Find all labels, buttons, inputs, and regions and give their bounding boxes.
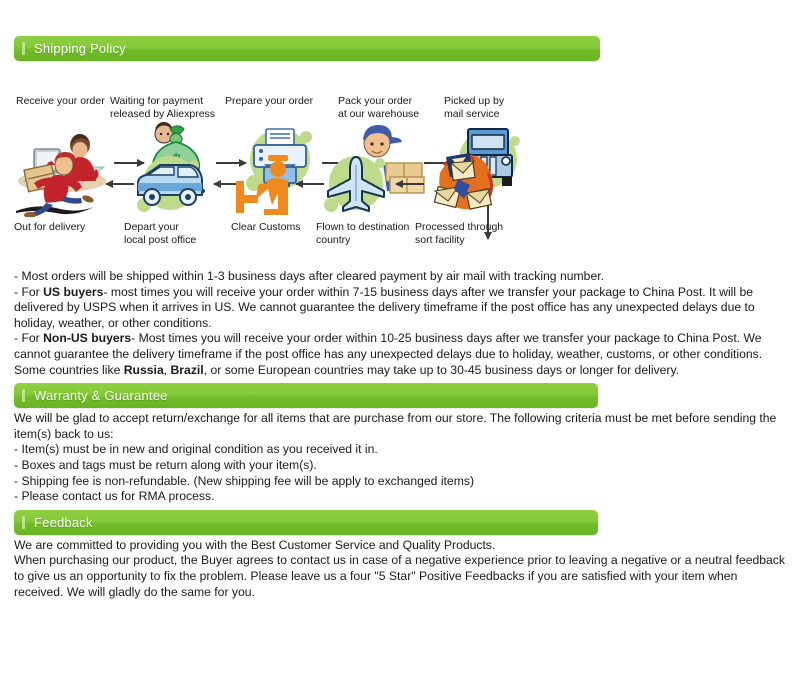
shipping-policy-text: - Most orders will be shipped within 1-3… [14, 269, 786, 378]
section-header-warranty: Warranty & Guarantee [14, 383, 598, 408]
text-segment-bold: US buyers [43, 285, 103, 299]
text-segment: - Please contact us for RMA process. [14, 489, 215, 503]
text-segment: We are committed to providing you with t… [14, 538, 495, 552]
text-segment-bold: Non-US buyers [43, 331, 131, 345]
warranty-paragraph-4: - Shipping fee is non-refundable. (New s… [14, 474, 786, 490]
flow-label-clear-customs: Clear Customs [231, 221, 300, 234]
section-header-feedback: Feedback [14, 510, 598, 535]
shipping-paragraph-2: - For US buyers- most times you will rec… [14, 285, 786, 332]
warranty-text: We will be glad to accept return/exchang… [14, 411, 786, 505]
running-courier-icon [12, 149, 108, 217]
text-segment-bold: Russia [124, 363, 164, 377]
flow-label-sort-facility: Processed through sort facility [415, 221, 503, 246]
text-segment: When purchasing our product, the Buyer a… [14, 553, 785, 598]
customs-officer-icon [228, 151, 296, 219]
flow-arrow-8 [396, 183, 424, 185]
shipping-info-page: Shipping Policy Receive your order Waiti… [0, 36, 800, 674]
text-segment: - most times you will receive your order… [14, 285, 755, 330]
bar-tick-icon [22, 516, 25, 529]
feedback-text: We are committed to providing you with t… [14, 538, 786, 600]
flow-label-flown-destination: Flown to destination country [316, 221, 409, 246]
feedback-paragraph-1: We are committed to providing you with t… [14, 538, 786, 554]
text-segment: , [164, 363, 171, 377]
shipping-flow-diagram: Receive your order Waiting for payment r… [0, 61, 800, 266]
feedback-paragraph-2: When purchasing our product, the Buyer a… [14, 553, 786, 600]
text-segment: - Item(s) must be in new and original co… [14, 442, 378, 456]
flow-label-prepare-order: Prepare your order [225, 95, 313, 108]
section-header-shipping-policy: Shipping Policy [14, 36, 600, 61]
flow-label-pack-order: Pack your order at our warehouse [338, 95, 419, 120]
section-title-feedback: Feedback [34, 515, 93, 530]
section-title-shipping: Shipping Policy [34, 41, 126, 56]
flow-label-picked-up: Picked up by mail service [444, 95, 504, 120]
text-segment-bold: Brazil [171, 363, 204, 377]
shipping-paragraph-1: - Most orders will be shipped within 1-3… [14, 269, 786, 285]
bar-tick-icon [22, 42, 25, 55]
warranty-paragraph-5: - Please contact us for RMA process. [14, 489, 786, 505]
warranty-paragraph-2: - Item(s) must be in new and original co… [14, 442, 786, 458]
text-segment: - For [14, 285, 43, 299]
flow-label-depart-post-office: Depart your local post office [124, 221, 196, 246]
text-segment: We will be glad to accept return/exchang… [14, 411, 776, 441]
flow-label-out-for-delivery: Out for delivery [14, 221, 85, 234]
flow-label-receive-order: Receive your order [16, 95, 105, 108]
text-segment: - Boxes and tags must be return along wi… [14, 458, 317, 472]
text-segment: - Most orders will be shipped within 1-3… [14, 269, 604, 283]
mail-sorting-icon [424, 147, 504, 219]
warranty-paragraph-3: - Boxes and tags must be return along wi… [14, 458, 786, 474]
airplane-icon [318, 151, 396, 219]
text-segment: , or some European countries may take up… [204, 363, 679, 377]
bar-tick-icon [22, 389, 25, 402]
section-title-warranty: Warranty & Guarantee [34, 388, 168, 403]
text-segment: - For [14, 331, 43, 345]
text-segment: - Shipping fee is non-refundable. (New s… [14, 474, 474, 488]
warranty-paragraph-1: We will be glad to accept return/exchang… [14, 411, 786, 442]
shipping-paragraph-3: - For Non-US buyers- Most times you will… [14, 331, 786, 378]
blue-van-icon [128, 153, 212, 219]
